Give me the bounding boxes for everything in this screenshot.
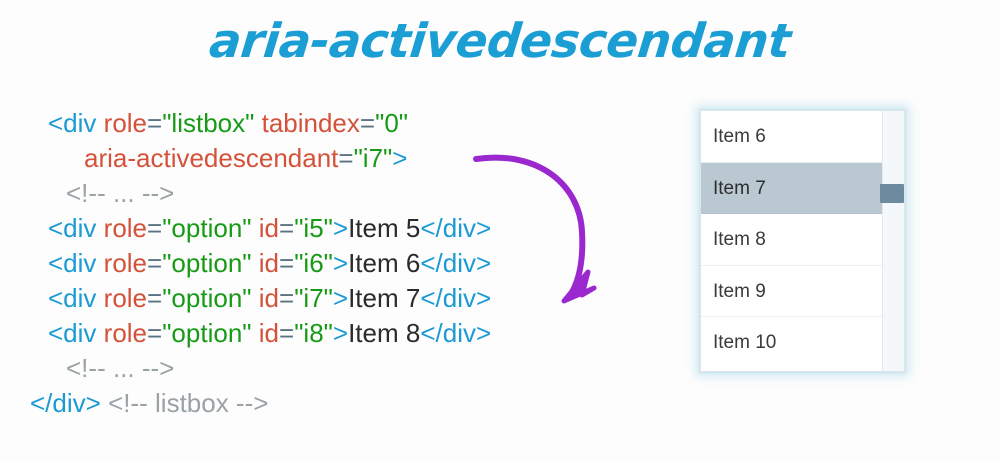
code-token-eq: = (279, 213, 294, 243)
code-token-tag: > (333, 248, 348, 278)
code-token-comment: <!-- ... --> (66, 178, 174, 208)
listbox-option[interactable]: Item 10 (701, 317, 882, 369)
listbox-option[interactable]: Item 6 (701, 111, 882, 163)
listbox-option[interactable]: Item 9 (701, 266, 882, 318)
code-token-val: "option" (162, 283, 251, 313)
code-token-txt (252, 213, 259, 243)
listbox-widget[interactable]: Item 6Item 7Item 8Item 9Item 10 (700, 110, 905, 372)
code-token-eq: = (279, 283, 294, 313)
code-token-txt (254, 108, 261, 138)
code-token-eq: = (147, 283, 162, 313)
code-token-tag: > (392, 143, 407, 173)
code-line: <div role="option" id="i8">Item 8</div> (30, 316, 670, 351)
listbox-option[interactable]: Item 7 (701, 163, 882, 215)
code-line: <!-- ... --> (30, 351, 670, 386)
code-token-attr: role (104, 213, 147, 243)
code-token-eq: = (279, 318, 294, 348)
code-snippet: <div role="listbox" tabindex="0"aria-act… (30, 106, 670, 421)
code-token-eq: = (147, 318, 162, 348)
code-token-tag: <div (48, 318, 104, 348)
code-token-eq: = (338, 143, 353, 173)
code-token-tag: </div> (420, 283, 491, 313)
code-token-txt (252, 283, 259, 313)
code-token-attr: id (259, 213, 279, 243)
code-token-attr: tabindex (262, 108, 360, 138)
code-line: aria-activedescendant="i7"> (30, 141, 670, 176)
code-token-val: "listbox" (162, 108, 254, 138)
code-token-attr: role (104, 108, 147, 138)
code-token-tag: <div (48, 283, 104, 313)
code-token-tag: </div> (420, 318, 491, 348)
code-token-attr: aria-activedescendant (84, 143, 338, 173)
code-token-eq: = (147, 213, 162, 243)
code-token-txt: Item 6 (348, 248, 420, 278)
code-token-tag: <div (48, 108, 104, 138)
code-token-eq: = (360, 108, 375, 138)
code-token-tag: <div (48, 213, 104, 243)
code-line: <div role="listbox" tabindex="0" (30, 106, 670, 141)
code-token-attr: role (104, 248, 147, 278)
code-token-txt (252, 318, 259, 348)
code-token-val: "option" (162, 318, 251, 348)
scrollbar-thumb[interactable] (880, 184, 904, 203)
code-token-eq: = (279, 248, 294, 278)
code-token-attr: id (259, 283, 279, 313)
code-line: <div role="option" id="i6">Item 6</div> (30, 246, 670, 281)
code-token-val: "i8" (294, 318, 333, 348)
listbox-scrollbar[interactable] (882, 111, 904, 371)
code-token-txt (101, 388, 108, 418)
listbox-option-list: Item 6Item 7Item 8Item 9Item 10 (701, 111, 882, 371)
code-token-val: "i5" (294, 213, 333, 243)
code-token-attr: role (104, 318, 147, 348)
code-token-eq: = (147, 248, 162, 278)
code-token-tag: </div> (420, 213, 491, 243)
code-token-txt: Item 8 (348, 318, 420, 348)
code-token-tag: </div> (30, 388, 101, 418)
code-token-txt: Item 7 (348, 283, 420, 313)
code-line: <!-- ... --> (30, 176, 670, 211)
code-token-comment: <!-- ... --> (66, 353, 174, 383)
code-token-eq: = (147, 108, 162, 138)
code-token-txt: Item 5 (348, 213, 420, 243)
code-token-tag: > (333, 318, 348, 348)
code-token-txt (252, 248, 259, 278)
illustration-canvas: aria-activedescendant <div role="listbox… (0, 0, 1000, 462)
code-token-val: "i6" (294, 248, 333, 278)
code-token-tag: > (333, 283, 348, 313)
page-title: aria-activedescendant (0, 14, 1000, 69)
code-token-val: "i7" (294, 283, 333, 313)
code-token-tag: </div> (420, 248, 491, 278)
code-token-attr: id (259, 248, 279, 278)
code-token-val: "0" (375, 108, 408, 138)
code-line: </div> <!-- listbox --> (30, 386, 670, 421)
code-token-tag: <div (48, 248, 104, 278)
listbox-option[interactable]: Item 8 (701, 214, 882, 266)
code-token-val: "option" (162, 248, 251, 278)
code-token-tag: > (333, 213, 348, 243)
code-token-val: "option" (162, 213, 251, 243)
code-token-attr: role (104, 283, 147, 313)
code-token-val: "i7" (354, 143, 393, 173)
code-token-attr: id (259, 318, 279, 348)
code-line: <div role="option" id="i7">Item 7</div> (30, 281, 670, 316)
code-token-comment: <!-- listbox --> (108, 388, 268, 418)
code-line: <div role="option" id="i5">Item 5</div> (30, 211, 670, 246)
